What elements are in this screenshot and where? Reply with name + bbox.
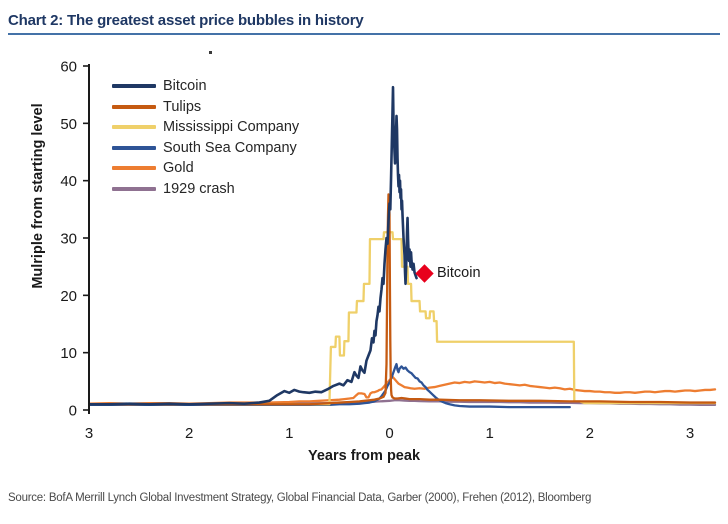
page-title: Chart 2: The greatest asset price bubble… bbox=[8, 12, 720, 30]
bitcoin-annotation-label: Bitcoin bbox=[437, 266, 481, 280]
legend-item-tulips[interactable]: Tulips bbox=[112, 97, 299, 118]
legend-item-label: Bitcoin bbox=[163, 79, 207, 93]
x-axis-tick-label: 3 bbox=[85, 425, 93, 442]
legend-swatch-icon bbox=[112, 125, 156, 129]
legend-item-label: Tulips bbox=[163, 100, 201, 114]
legend-item-label: Gold bbox=[163, 161, 194, 175]
x-axis-tick-label: 1 bbox=[285, 425, 293, 442]
y-axis-title: Mulriple from starting level bbox=[30, 96, 46, 296]
y-axis-tick-label: 60 bbox=[60, 59, 77, 76]
red-diamond-icon bbox=[415, 264, 433, 282]
stray-dot-artifact bbox=[209, 51, 212, 54]
x-axis-tick-label: 3 bbox=[686, 425, 694, 442]
legend-swatch-icon bbox=[112, 105, 156, 109]
legend-swatch-icon bbox=[112, 166, 156, 170]
legend-swatch-icon bbox=[112, 84, 156, 88]
legend-item-label: South Sea Company bbox=[163, 141, 297, 155]
legend-swatch-icon bbox=[112, 146, 156, 150]
chart-legend: BitcoinTulipsMississippi CompanySouth Se… bbox=[112, 76, 299, 199]
x-axis-tick-label: 0 bbox=[385, 425, 393, 442]
legend-item-mississippi-company[interactable]: Mississippi Company bbox=[112, 117, 299, 138]
x-axis-tick-label: 2 bbox=[586, 425, 594, 442]
x-axis-title: Years from peak bbox=[0, 448, 728, 464]
chart-canvas: 01020304050603210123 bbox=[0, 40, 728, 470]
x-axis-tick-label: 2 bbox=[185, 425, 193, 442]
chart-page: Chart 2: The greatest asset price bubble… bbox=[0, 0, 728, 524]
y-axis-tick-label: 50 bbox=[60, 116, 77, 133]
legend-item-bitcoin[interactable]: Bitcoin bbox=[112, 76, 299, 97]
y-axis-tick-label: 40 bbox=[60, 173, 77, 190]
title-bar: Chart 2: The greatest asset price bubble… bbox=[8, 12, 720, 30]
legend-item-1929-crash[interactable]: 1929 crash bbox=[112, 179, 299, 200]
plot-area: 01020304050603210123 bbox=[0, 40, 728, 470]
title-underline-rule bbox=[8, 33, 720, 35]
legend-item-gold[interactable]: Gold bbox=[112, 158, 299, 179]
legend-item-south-sea-company[interactable]: South Sea Company bbox=[112, 138, 299, 159]
legend-swatch-icon bbox=[112, 187, 156, 191]
y-axis-tick-label: 0 bbox=[69, 403, 77, 420]
bitcoin-annotation: Bitcoin bbox=[418, 266, 481, 280]
x-axis-tick-label: 1 bbox=[485, 425, 493, 442]
series-line-mississippi-company bbox=[89, 232, 715, 404]
y-axis-tick-label: 30 bbox=[60, 231, 77, 248]
source-note: Source: BofA Merrill Lynch Global Invest… bbox=[8, 492, 591, 504]
legend-item-label: 1929 crash bbox=[163, 182, 235, 196]
legend-item-label: Mississippi Company bbox=[163, 120, 299, 134]
y-axis-tick-label: 20 bbox=[60, 288, 77, 305]
y-axis-tick-label: 10 bbox=[60, 345, 77, 362]
